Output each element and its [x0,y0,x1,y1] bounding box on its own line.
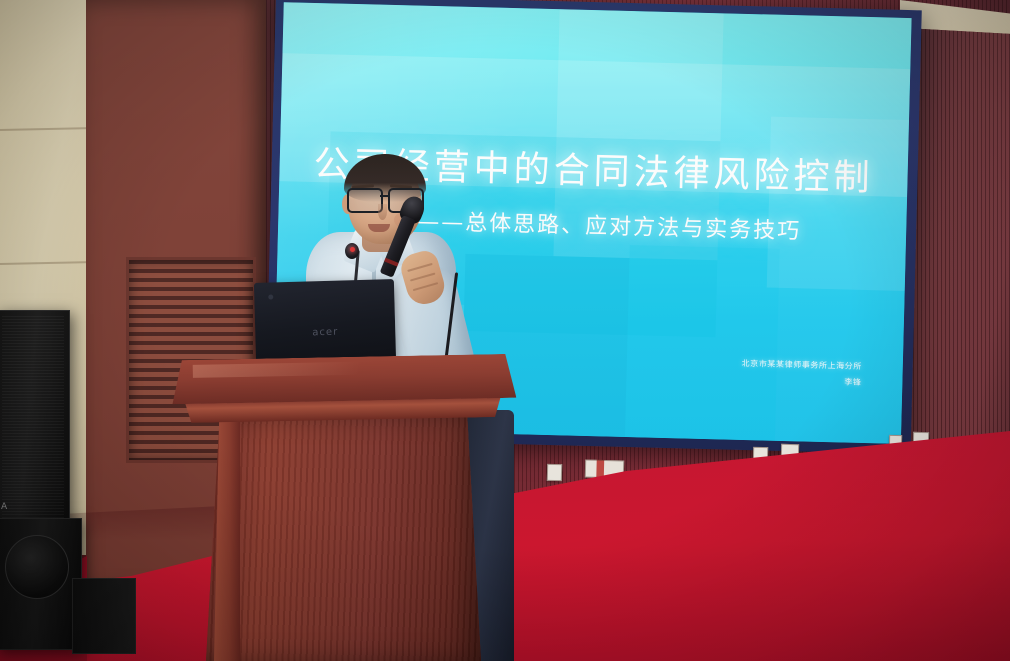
speaker-cone-icon [5,535,69,599]
slide-block [767,117,909,291]
pa-speaker-side-box [72,578,136,654]
lectern-highlight [192,361,433,379]
panel-seam [0,127,96,131]
wall-socket-plate[interactable] [547,464,562,481]
hand-knuckle [413,282,439,291]
laptop-hinge-dot [268,294,273,299]
hand-knuckle [407,263,433,272]
slide-block [625,245,781,440]
slide-credit: 北京市某某律师事务所上海分所 李锋 [741,356,862,389]
hand-knuckle [410,272,436,281]
speaker-grille-icon [2,316,64,521]
microphone-led-indicator [350,247,355,252]
panel-seam [0,261,96,265]
pa-speaker-subwoofer [0,518,82,650]
lectern-desktop [172,354,517,405]
slide-credit-org: 北京市某某律师事务所上海分所 [741,356,862,374]
presentation-photo: 公司经营中的合同法律风险控制 ——总体思路、应对方法与实务技巧 北京市某某律师事… [0,0,1010,661]
laptop-brand-label: acer [312,327,338,339]
pa-speaker-top: A [0,310,70,527]
presenter-nose [378,204,387,220]
speaker-brand-label: A [1,502,8,512]
lectern-body [206,416,481,661]
slide-credit-name: 李锋 [741,371,862,389]
laptop[interactable]: acer [254,279,396,365]
